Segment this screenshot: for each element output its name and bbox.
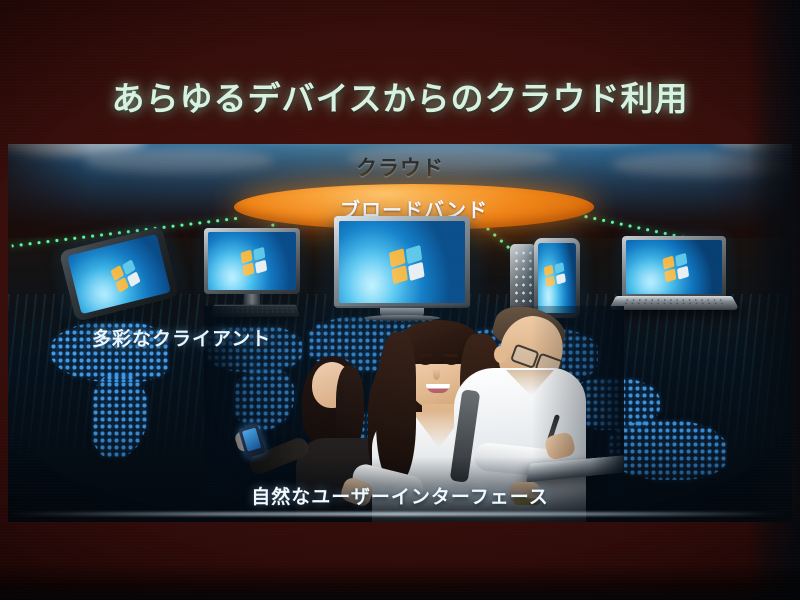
hair-left xyxy=(376,332,416,482)
diverse-clients-label: 多彩なクライアント xyxy=(92,324,271,351)
tv-frame xyxy=(334,216,470,308)
aio-monitor xyxy=(204,228,300,294)
slide-graphic: クラウド ブロードバンド xyxy=(8,144,792,522)
laptop-icon[interactable] xyxy=(616,236,732,316)
slide-title: あらゆるデバイスからのクラウド利用 xyxy=(0,72,800,120)
ear xyxy=(494,346,507,363)
natural-user-interface-label: 自然なユーザーインターフェース xyxy=(8,482,792,509)
phone-screen xyxy=(538,243,576,313)
eye-left xyxy=(420,360,431,365)
aio-screen xyxy=(208,232,296,290)
slide-bottom-highlight xyxy=(8,512,792,516)
room-bottom-shadow xyxy=(0,564,800,600)
nose xyxy=(433,369,440,380)
windows-logo-icon xyxy=(389,247,427,285)
laptop-screen xyxy=(626,240,722,294)
windows-logo-icon xyxy=(110,260,144,294)
cloud-label: クラウド xyxy=(8,152,792,182)
tv-screen xyxy=(339,221,465,303)
laptop-lid xyxy=(622,236,726,298)
projected-slide-screen: あらゆるデバイスからのクラウド利用 クラウド ブロードバンド xyxy=(0,0,800,600)
phone-keypad[interactable] xyxy=(510,244,536,314)
eyebrow-left xyxy=(418,354,432,357)
windows-logo-icon xyxy=(544,264,569,289)
laptop-keyboard-base[interactable] xyxy=(609,296,740,310)
windows-logo-icon xyxy=(240,248,269,277)
windows-logo-icon xyxy=(662,254,691,283)
